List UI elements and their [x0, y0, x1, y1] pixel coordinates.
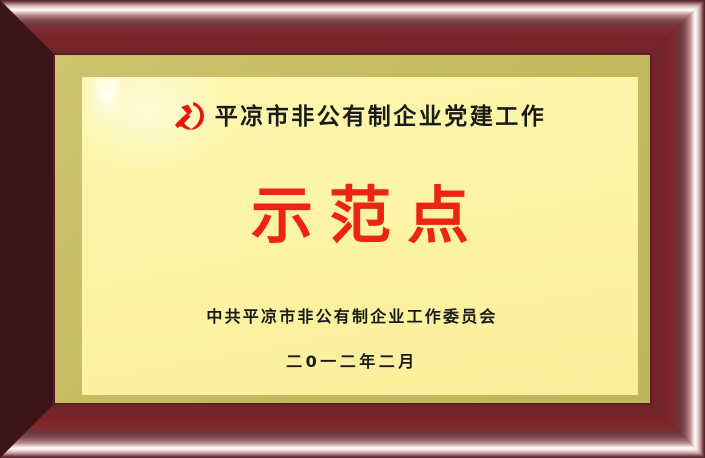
plaque-headline: 示范点	[82, 185, 638, 247]
panel-glare-spot	[102, 93, 112, 101]
plaque-title: 平凉市非公有制企业党建工作	[215, 106, 547, 129]
issue-date: 二0一二年二月	[82, 354, 638, 370]
issuing-organization: 中共平凉市非公有制企业工作委员会	[82, 309, 638, 325]
certificate-panel: 平凉市非公有制企业党建工作 示范点 中共平凉市非公有制企业工作委员会 二0一二年…	[82, 77, 638, 395]
cpc-hammer-sickle-emblem-icon	[174, 100, 206, 132]
award-plaque: 平凉市非公有制企业党建工作 示范点 中共平凉市非公有制企业工作委员会 二0一二年…	[0, 0, 705, 458]
title-row: 平凉市非公有制企业党建工作	[82, 102, 638, 132]
